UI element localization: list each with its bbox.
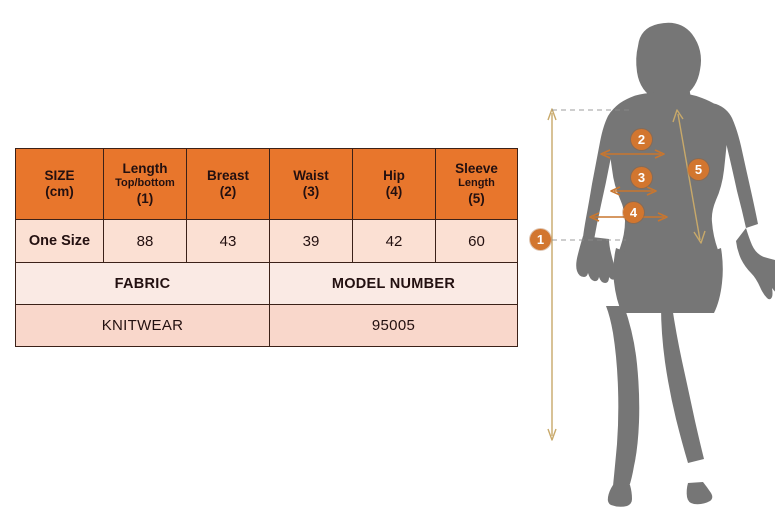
cell-sleeve-value: 60 bbox=[436, 220, 518, 263]
cell-waist-value: 39 bbox=[270, 220, 353, 263]
header-line2: (3) bbox=[270, 184, 352, 200]
measurement-badge-3: 3 bbox=[631, 167, 652, 188]
header-line2: (5) bbox=[436, 191, 517, 207]
section-header-row: FABRIC MODEL NUMBER bbox=[16, 263, 518, 305]
section-header-model-number: MODEL NUMBER bbox=[270, 263, 518, 305]
header-subline: Top/bottom bbox=[104, 177, 186, 190]
header-cell-hip: Hip (4) bbox=[353, 149, 436, 220]
female-body-silhouette-diagram bbox=[520, 0, 775, 514]
header-line1: Waist bbox=[270, 168, 352, 184]
header-line2: (1) bbox=[104, 191, 186, 207]
size-chart-table: SIZE (cm) Length Top/bottom (1) Breast (… bbox=[15, 148, 518, 347]
header-line1: Breast bbox=[187, 168, 269, 184]
header-subline: Length bbox=[436, 177, 517, 190]
header-line2: (4) bbox=[353, 184, 435, 200]
measurement-badge-1: 1 bbox=[530, 229, 551, 250]
header-cell-length: Length Top/bottom (1) bbox=[104, 149, 187, 220]
cell-hip-value: 42 bbox=[353, 220, 436, 263]
measurement-badge-5: 5 bbox=[688, 159, 709, 180]
section-value-row: KNITWEAR 95005 bbox=[16, 305, 518, 347]
section-header-fabric: FABRIC bbox=[16, 263, 270, 305]
cell-size-value: One Size bbox=[16, 220, 104, 263]
header-line1: Sleeve bbox=[436, 161, 517, 177]
cell-breast-value: 43 bbox=[187, 220, 270, 263]
cell-length-value: 88 bbox=[104, 220, 187, 263]
cell-model-number-value: 95005 bbox=[270, 305, 518, 347]
header-line2: (cm) bbox=[16, 184, 103, 200]
header-cell-waist: Waist (3) bbox=[270, 149, 353, 220]
header-line1: SIZE bbox=[16, 168, 103, 184]
measurement-badge-4: 4 bbox=[623, 202, 644, 223]
body-silhouette-icon bbox=[576, 23, 775, 507]
header-cell-sleeve-length: Sleeve Length (5) bbox=[436, 149, 518, 220]
header-line1: Hip bbox=[353, 168, 435, 184]
measurement-1-length-arrow bbox=[548, 109, 556, 440]
header-line2: (2) bbox=[187, 184, 269, 200]
header-line1: Length bbox=[104, 161, 186, 177]
table-row: One Size 88 43 39 42 60 bbox=[16, 220, 518, 263]
cell-fabric-value: KNITWEAR bbox=[16, 305, 270, 347]
table-header-row: SIZE (cm) Length Top/bottom (1) Breast (… bbox=[16, 149, 518, 220]
header-cell-size: SIZE (cm) bbox=[16, 149, 104, 220]
measurement-badge-2: 2 bbox=[631, 129, 652, 150]
measurement-figure-panel: 1 2 3 4 5 bbox=[520, 0, 775, 514]
header-cell-breast: Breast (2) bbox=[187, 149, 270, 220]
